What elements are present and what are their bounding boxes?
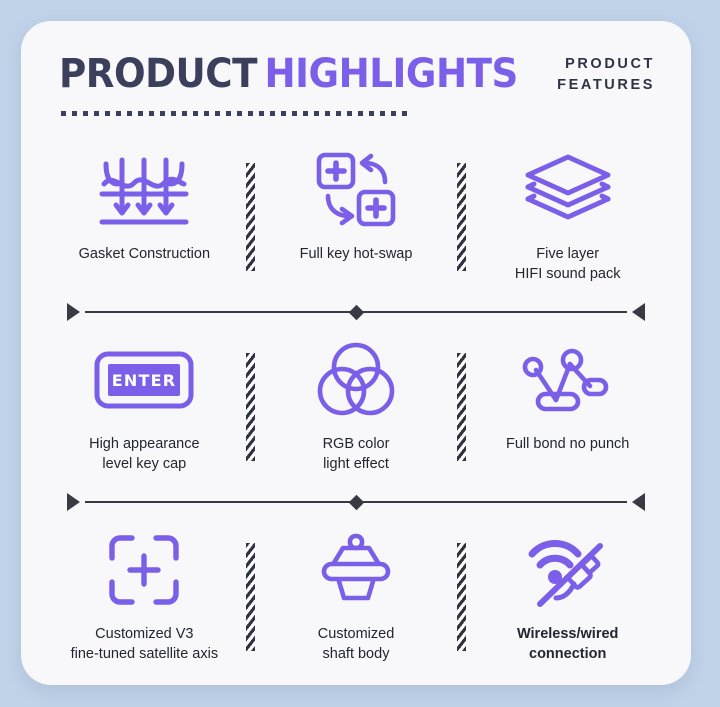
- feature-cell-five-layer-hifi: Five layer HIFI sound pack: [466, 133, 669, 301]
- eyebrow-line-1: PRODUCT: [557, 54, 655, 75]
- page-title: PRODUCTHIGHLIGHTS: [59, 54, 518, 94]
- title-part-highlights: HIGHLIGHTS: [264, 51, 517, 97]
- diamond-marker: [348, 304, 364, 320]
- eyebrow-label: PRODUCT FEATURES: [557, 54, 655, 96]
- section-divider-2: [67, 491, 645, 513]
- column-separator-striped: [457, 543, 466, 651]
- feature-row-1: Gasket Construction Full: [21, 133, 691, 301]
- feature-cell-customized-shaft-body: Customized shaft body: [255, 513, 458, 681]
- eyebrow-line-2: FEATURES: [557, 75, 655, 96]
- title-part-product: PRODUCT: [59, 51, 257, 97]
- feature-cell-customized-v3-satellite-axis: Customized V3 fine-tuned satellite axis: [43, 513, 246, 681]
- focus-frame-plus-icon: [108, 527, 180, 613]
- feature-cell-wireless-wired-connection: Wireless/wired connection: [466, 513, 669, 681]
- feature-label: Customized shaft body: [318, 625, 395, 664]
- layers-stack-icon: [522, 147, 614, 233]
- feature-cell-rgb-light-effect: RGB color light effect: [255, 323, 458, 491]
- feature-label: Wireless/wired connection: [517, 625, 618, 664]
- triangle-left-icon: [67, 303, 80, 321]
- feature-label: Customized V3 fine-tuned satellite axis: [71, 625, 219, 664]
- feature-label: Full key hot-swap: [300, 245, 413, 265]
- triangle-right-icon: [632, 303, 645, 321]
- column-separator-striped: [457, 353, 466, 461]
- feature-cell-full-key-hot-swap: Full key hot-swap: [255, 133, 458, 301]
- triangle-left-icon: [67, 493, 80, 511]
- full-bond-nodes-icon: [518, 337, 618, 423]
- wireless-wired-icon: [526, 527, 610, 613]
- feature-rows: Gasket Construction Full: [21, 133, 691, 681]
- feature-label: RGB color light effect: [323, 435, 390, 474]
- switch-shaft-body-icon: [314, 527, 398, 613]
- column-separator-striped: [457, 163, 466, 271]
- product-highlights-card: PRODUCTHIGHLIGHTS PRODUCT FEATURES: [21, 21, 691, 685]
- feature-label: Full bond no punch: [506, 435, 629, 455]
- header: PRODUCTHIGHLIGHTS PRODUCT FEATURES: [21, 21, 691, 133]
- column-separator-striped: [246, 543, 255, 651]
- feature-label: Gasket Construction: [79, 245, 210, 265]
- keycap-text: ENTER: [112, 371, 176, 390]
- feature-row-2: ENTER High appearance level key cap RGB …: [21, 323, 691, 491]
- column-separator-striped: [246, 163, 255, 271]
- diamond-marker: [348, 494, 364, 510]
- feature-label: High appearance level key cap: [89, 435, 199, 474]
- enter-keycap-icon: ENTER: [94, 337, 194, 423]
- feature-label: Five layer HIFI sound pack: [515, 245, 621, 284]
- feature-cell-full-bond-no-punch: Full bond no punch: [466, 323, 669, 491]
- feature-row-3: Customized V3 fine-tuned satellite axis …: [21, 513, 691, 681]
- section-divider-1: [67, 301, 645, 323]
- feature-cell-gasket-construction: Gasket Construction: [43, 133, 246, 301]
- hot-swap-icon: [313, 147, 399, 233]
- title-dotted-underline: [61, 111, 409, 116]
- column-separator-striped: [246, 353, 255, 461]
- rgb-venn-circles-icon: [317, 337, 395, 423]
- feature-cell-high-appearance-keycap: ENTER High appearance level key cap: [43, 323, 246, 491]
- triangle-right-icon: [632, 493, 645, 511]
- gasket-construction-icon: [96, 147, 192, 233]
